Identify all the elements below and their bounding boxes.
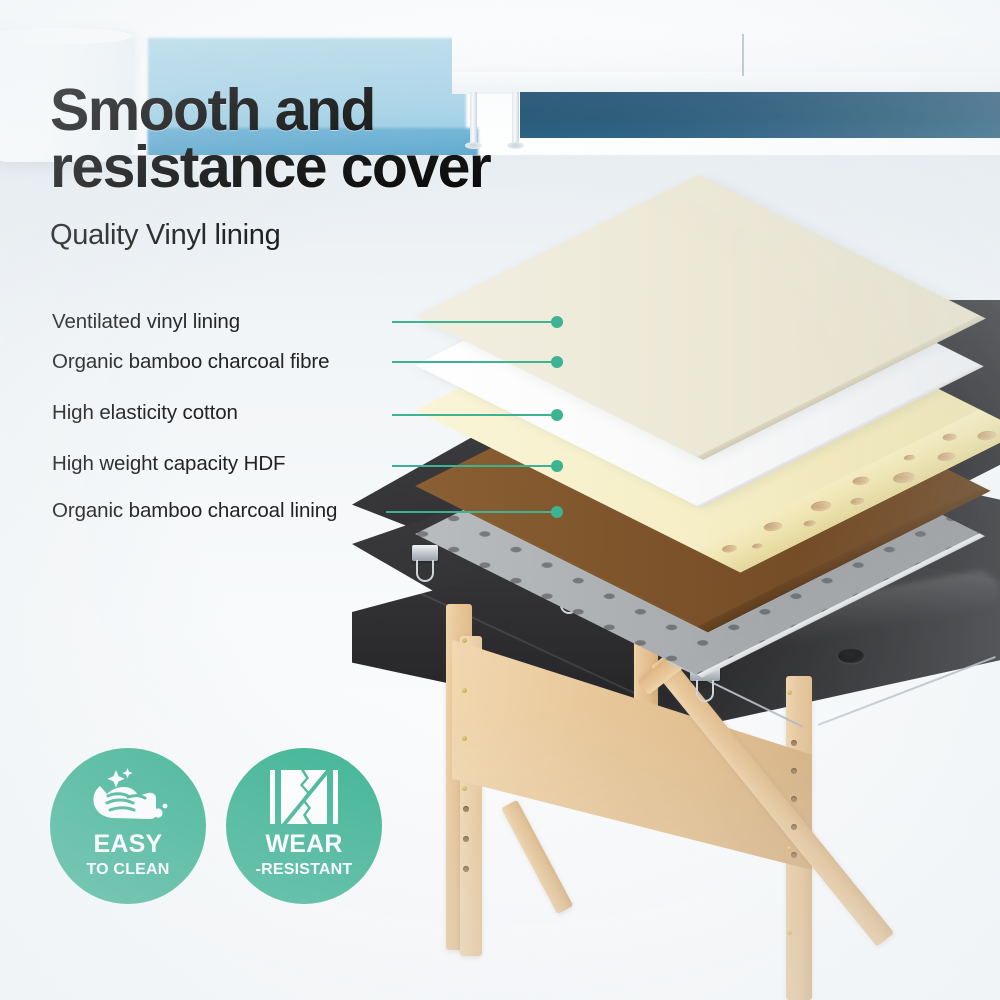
image-vignette [0,0,1000,1000]
product-feature-image: Smooth and resistance cover Quality Viny… [0,0,1000,1000]
